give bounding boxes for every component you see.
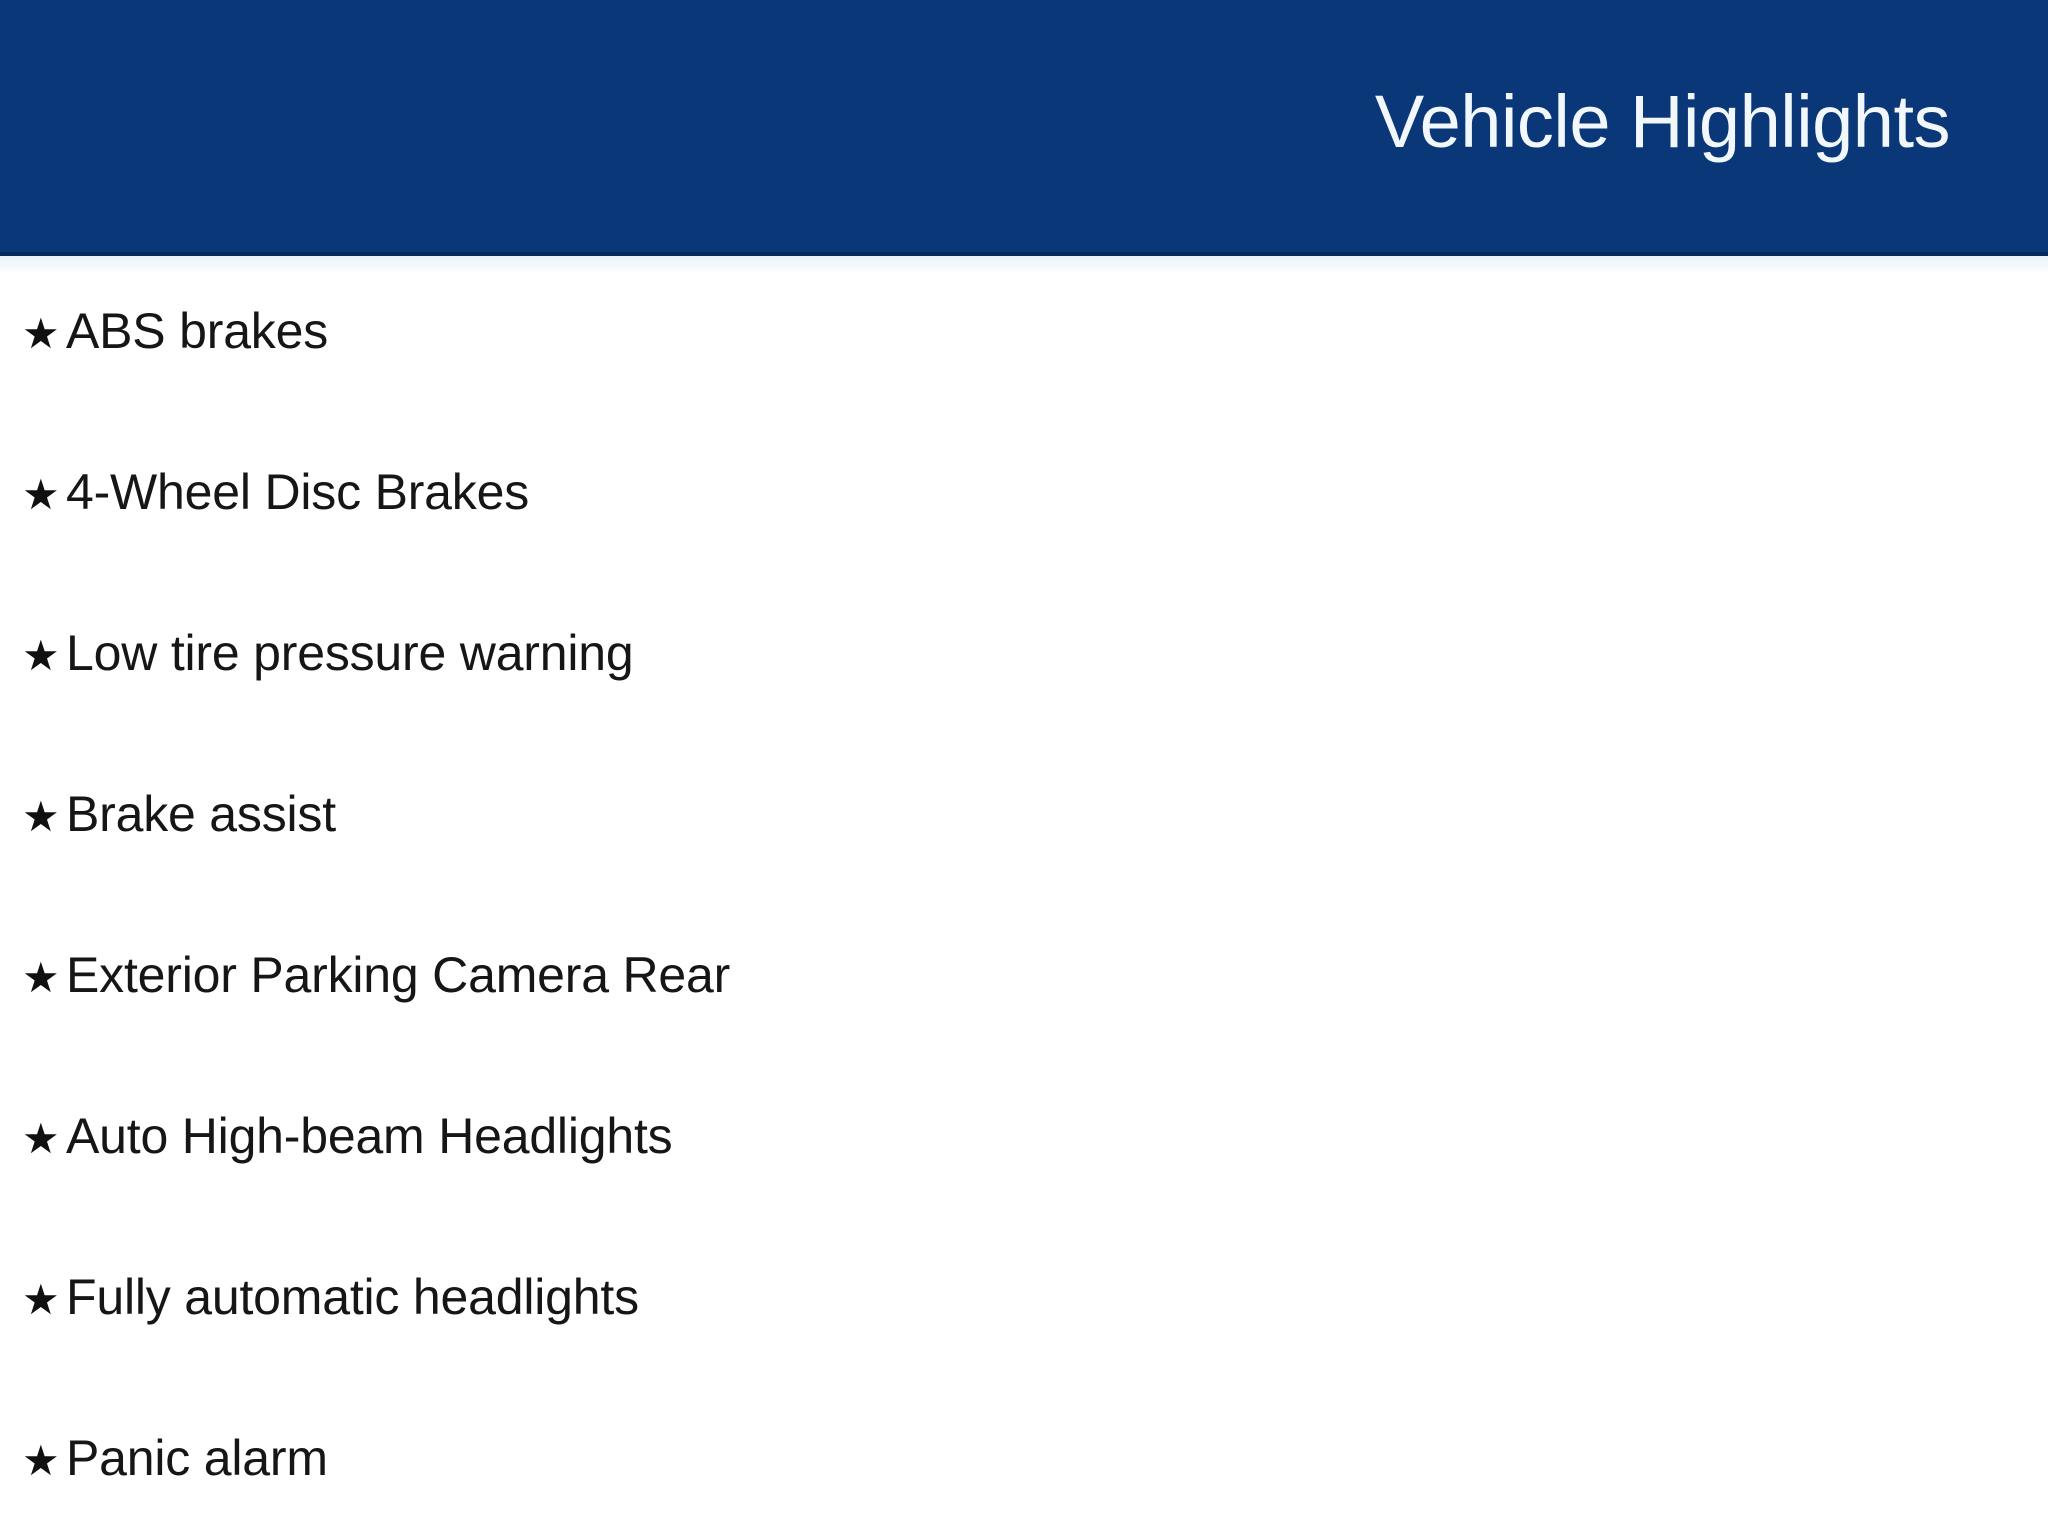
list-item-label: ABS brakes [66, 306, 328, 356]
list-item: ★Brake assist [22, 789, 336, 849]
page-header: Vehicle Highlights [0, 0, 2048, 256]
vehicle-highlights-page: Vehicle Highlights ★ABS brakes★4-Wheel D… [0, 0, 2048, 1536]
list-item-label: Fully automatic headlights [66, 1272, 639, 1322]
list-item-label: Low tire pressure warning [66, 628, 634, 678]
list-item-label: Auto High-beam Headlights [66, 1111, 672, 1161]
list-item: ★ABS brakes [22, 306, 328, 366]
star-icon: ★ [22, 796, 66, 838]
star-icon: ★ [22, 1118, 66, 1160]
list-item: ★Exterior Parking Camera Rear [22, 950, 730, 1010]
list-item-label: Panic alarm [66, 1433, 328, 1483]
star-icon: ★ [22, 957, 66, 999]
list-item: ★Panic alarm [22, 1433, 328, 1493]
list-item-label: Brake assist [66, 789, 336, 839]
list-item-label: Exterior Parking Camera Rear [66, 950, 730, 1000]
vehicle-highlights-list: ★ABS brakes★4-Wheel Disc Brakes★Low tire… [0, 256, 2048, 1536]
star-icon: ★ [22, 1440, 66, 1482]
list-item-label: 4-Wheel Disc Brakes [66, 467, 529, 517]
page-title: Vehicle Highlights [1375, 85, 1950, 159]
list-item: ★Low tire pressure warning [22, 628, 634, 688]
star-icon: ★ [22, 313, 66, 355]
star-icon: ★ [22, 1279, 66, 1321]
list-item: ★4-Wheel Disc Brakes [22, 467, 529, 527]
star-icon: ★ [22, 474, 66, 516]
list-item: ★Auto High-beam Headlights [22, 1111, 672, 1171]
list-item: ★Fully automatic headlights [22, 1272, 639, 1332]
star-icon: ★ [22, 635, 66, 677]
